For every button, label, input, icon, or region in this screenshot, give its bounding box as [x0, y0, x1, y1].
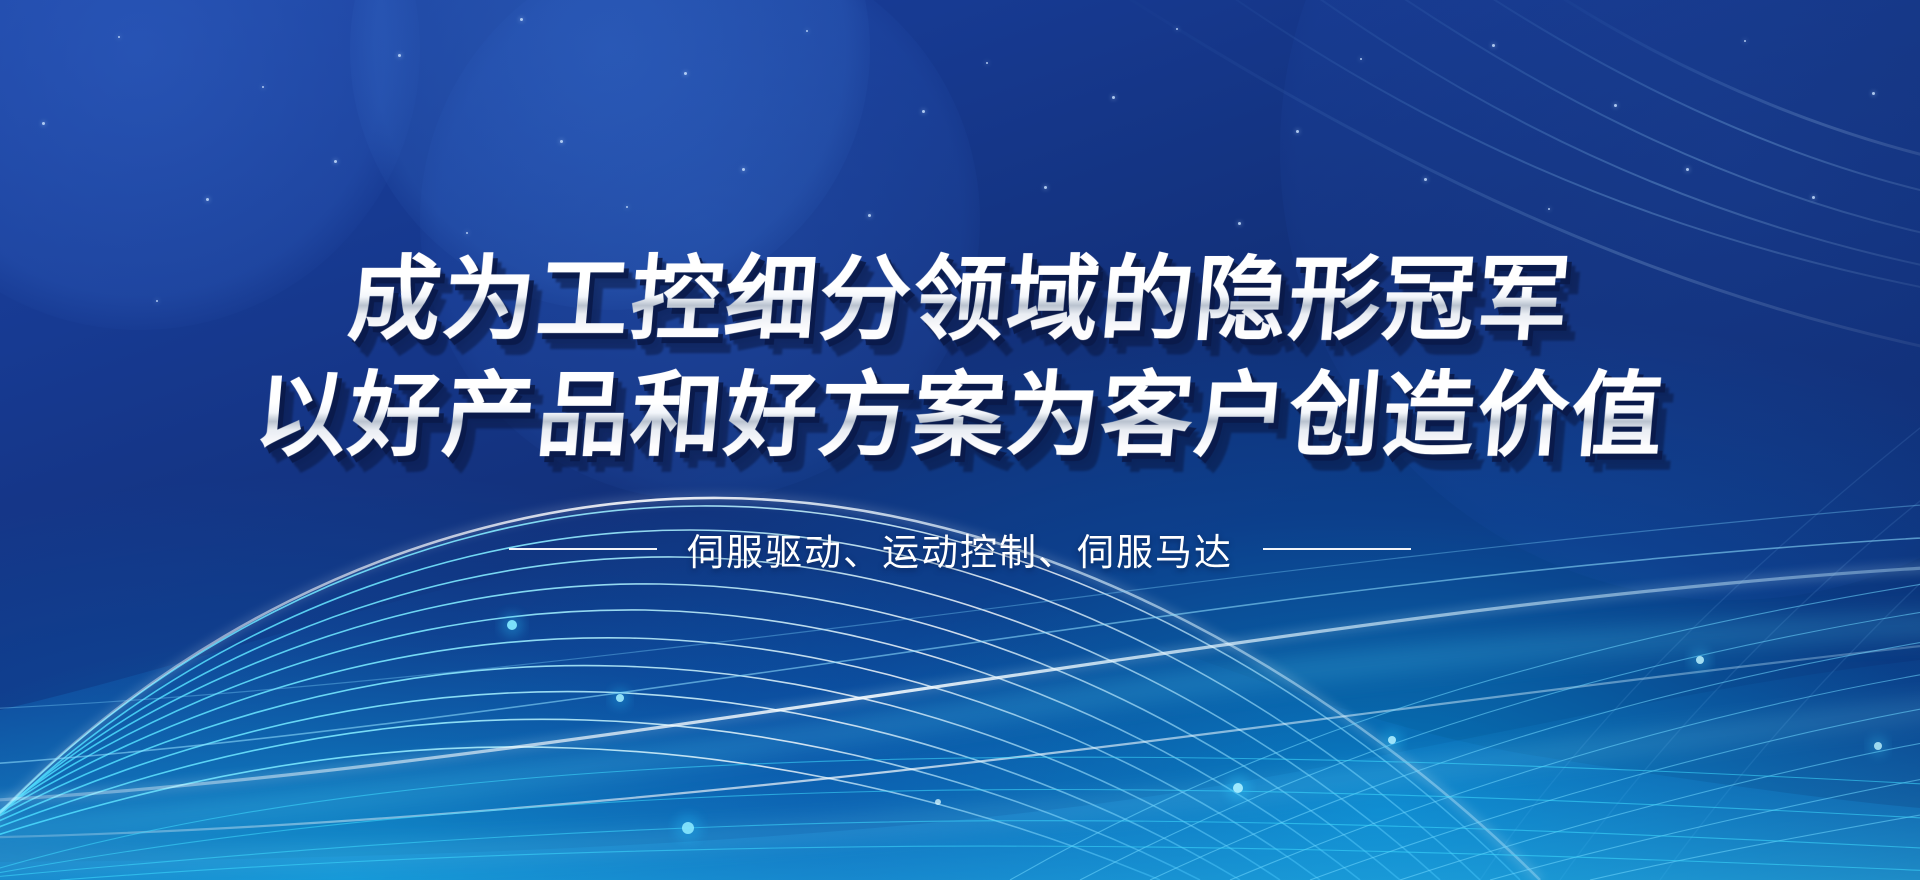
subtitle-text: 伺服驱动、运动控制、伺服马达	[687, 522, 1233, 576]
headline-line-2: 以好产品和好方案为客户创造价值	[250, 362, 1669, 470]
banner-content: 成为工控细分领域的隐形冠军 以好产品和好方案为客户创造价值 伺服驱动、运动控制、…	[0, 0, 1920, 880]
promotional-banner: 成为工控细分领域的隐形冠军 以好产品和好方案为客户创造价值 伺服驱动、运动控制、…	[0, 0, 1920, 880]
divider-rule-left	[509, 548, 657, 550]
divider-rule-right	[1263, 548, 1411, 550]
subtitle-row: 伺服驱动、运动控制、伺服马达	[509, 522, 1411, 576]
headline-line-1: 成为工控细分领域的隐形冠军	[344, 246, 1575, 354]
